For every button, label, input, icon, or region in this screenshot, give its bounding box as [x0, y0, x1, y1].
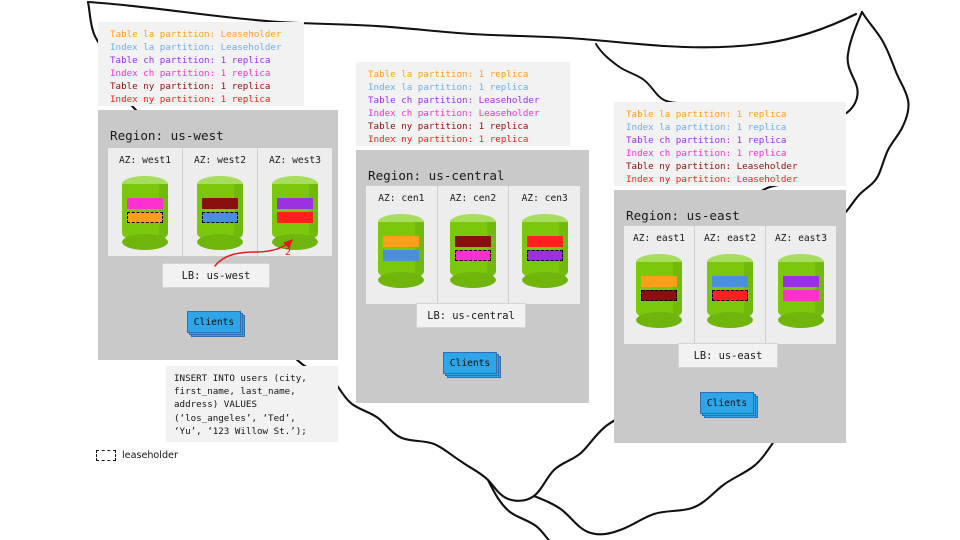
az-label-west1: AZ: west1 — [119, 155, 171, 166]
clients-sheet-front[interactable]: Clients — [700, 392, 754, 414]
replica-chips-east2 — [712, 276, 748, 301]
replica-chip — [455, 250, 491, 261]
legend-panel-us-central: Table la partition: 1 replica Index la p… — [356, 62, 570, 146]
az-label-cen1: AZ: cen1 — [378, 193, 424, 204]
legend-line-index-ny: Index ny partition: Leaseholder — [626, 173, 836, 186]
leaseholder-key-label: leaseholder — [122, 450, 178, 461]
replica-chip — [202, 198, 238, 209]
az-east1[interactable]: AZ: east1 — [624, 226, 694, 344]
legend-line-table-ch: Table ch partition: 1 replica — [110, 54, 294, 67]
legend-line-index-ch: Index ch partition: Leaseholder — [368, 107, 560, 120]
load-balancer-us-east[interactable]: LB: us-east — [678, 343, 778, 368]
replica-chip — [641, 290, 677, 301]
az-group-us-central: AZ: cen1 AZ: cen2 — [366, 186, 580, 304]
az-cen2[interactable]: AZ: cen2 — [437, 186, 509, 304]
replica-chips-cen3 — [527, 236, 563, 261]
sql-insert-note: INSERT INTO users (city, first_name, las… — [166, 366, 338, 442]
database-node-west3[interactable] — [272, 176, 318, 250]
replica-chips-west2 — [202, 198, 238, 223]
az-west2[interactable]: AZ: west2 — [182, 148, 257, 256]
annotation-label-2: 2 — [285, 247, 291, 258]
replica-chip — [127, 212, 163, 223]
az-group-us-east: AZ: east1 AZ: east2 — [624, 226, 836, 344]
cylinder-bottom — [272, 234, 318, 250]
cylinder-bottom — [707, 312, 753, 328]
clients-us-central[interactable]: Clients — [443, 352, 501, 378]
leaseholder-key: leaseholder — [96, 450, 178, 461]
clients-sheet-front[interactable]: Clients — [187, 311, 241, 333]
az-label-east1: AZ: east1 — [633, 233, 685, 244]
replica-chip — [127, 198, 163, 209]
load-balancer-us-central[interactable]: LB: us-central — [416, 303, 526, 328]
legend-line-table-ch: Table ch partition: Leaseholder — [368, 94, 560, 107]
replica-chips-east3 — [783, 276, 819, 301]
replica-chip — [641, 276, 677, 287]
clients-sheet-front[interactable]: Clients — [443, 352, 497, 374]
replica-chip — [383, 250, 419, 261]
cylinder-bottom — [122, 234, 168, 250]
replica-chip — [783, 290, 819, 301]
database-node-cen1[interactable] — [378, 214, 424, 288]
replica-chip — [383, 236, 419, 247]
database-node-cen2[interactable] — [450, 214, 496, 288]
az-label-cen2: AZ: cen2 — [450, 193, 496, 204]
clients-us-east[interactable]: Clients — [700, 392, 758, 418]
az-cen3[interactable]: AZ: cen3 — [508, 186, 580, 304]
legend-line-index-ny: Index ny partition: 1 replica — [110, 93, 294, 106]
az-label-east2: AZ: east2 — [704, 233, 756, 244]
cylinder-bottom — [197, 234, 243, 250]
az-label-east3: AZ: east3 — [775, 233, 827, 244]
leaseholder-swatch-icon — [96, 450, 116, 461]
clients-label: Clients — [707, 398, 747, 409]
diagram-canvas: Table la partition: Leaseholder Index la… — [0, 0, 960, 540]
az-label-west3: AZ: west3 — [269, 155, 321, 166]
legend-line-index-la: Index la partition: 1 replica — [626, 121, 836, 134]
az-west1[interactable]: AZ: west1 — [108, 148, 182, 256]
replica-chip — [277, 212, 313, 223]
region-title-us-west: Region: us-west — [110, 128, 224, 143]
legend-line-index-ch: Index ch partition: 1 replica — [626, 147, 836, 160]
clients-label: Clients — [450, 358, 490, 369]
legend-line-table-la: Table la partition: 1 replica — [368, 68, 560, 81]
legend-panel-us-east: Table la partition: 1 replica Index la p… — [614, 102, 846, 186]
legend-line-table-ny: Table ny partition: Leaseholder — [626, 160, 836, 173]
replica-chips-west3 — [277, 198, 313, 223]
sql-line: address) VALUES — [174, 398, 330, 411]
replica-chip — [527, 236, 563, 247]
sql-line: ‘Yu’, ‘123 Willow St.’); — [174, 425, 330, 438]
az-label-west2: AZ: west2 — [194, 155, 246, 166]
sql-line: INSERT INTO users (city, — [174, 372, 330, 385]
az-east2[interactable]: AZ: east2 — [694, 226, 765, 344]
database-node-east1[interactable] — [636, 254, 682, 328]
load-balancer-us-west[interactable]: LB: us-west — [162, 263, 270, 288]
legend-line-index-la: Index la partition: 1 replica — [368, 81, 560, 94]
legend-line-table-ch: Table ch partition: 1 replica — [626, 134, 836, 147]
replica-chip — [712, 276, 748, 287]
replica-chip — [455, 236, 491, 247]
database-node-west1[interactable] — [122, 176, 168, 250]
replica-chips-east1 — [641, 276, 677, 301]
legend-line-table-ny: Table ny partition: 1 replica — [368, 120, 560, 133]
sql-line: first_name, last_name, — [174, 385, 330, 398]
legend-panel-us-west: Table la partition: Leaseholder Index la… — [98, 22, 304, 106]
replica-chip — [712, 290, 748, 301]
legend-line-index-ny: Index ny partition: 1 replica — [368, 133, 560, 146]
database-node-east3[interactable] — [778, 254, 824, 328]
replica-chips-cen2 — [455, 236, 491, 261]
region-title-us-east: Region: us-east — [626, 208, 740, 223]
cylinder-bottom — [522, 272, 568, 288]
cylinder-bottom — [378, 272, 424, 288]
az-label-cen3: AZ: cen3 — [522, 193, 568, 204]
replica-chips-cen1 — [383, 236, 419, 261]
region-title-us-central: Region: us-central — [368, 168, 504, 183]
replica-chip — [527, 250, 563, 261]
az-east3[interactable]: AZ: east3 — [765, 226, 836, 344]
database-node-cen3[interactable] — [522, 214, 568, 288]
replica-chips-west1 — [127, 198, 163, 223]
legend-line-table-ny: Table ny partition: 1 replica — [110, 80, 294, 93]
replica-chip — [783, 276, 819, 287]
az-cen1[interactable]: AZ: cen1 — [366, 186, 437, 304]
replica-chip — [202, 212, 238, 223]
clients-us-west[interactable]: Clients — [187, 311, 245, 337]
replica-chip — [277, 198, 313, 209]
az-group-us-west: AZ: west1 AZ: west2 — [108, 148, 332, 256]
cylinder-bottom — [778, 312, 824, 328]
cylinder-bottom — [450, 272, 496, 288]
az-west3[interactable]: AZ: west3 — [257, 148, 332, 256]
legend-line-table-la: Table la partition: Leaseholder — [110, 28, 294, 41]
clients-label: Clients — [194, 317, 234, 328]
legend-line-index-la: Index la partition: Leaseholder — [110, 41, 294, 54]
database-node-east2[interactable] — [707, 254, 753, 328]
legend-line-table-la: Table la partition: 1 replica — [626, 108, 836, 121]
database-node-west2[interactable] — [197, 176, 243, 250]
sql-line: (‘los_angeles’, ‘Ted’, — [174, 412, 330, 425]
cylinder-bottom — [636, 312, 682, 328]
legend-line-index-ch: Index ch partition: 1 replica — [110, 67, 294, 80]
